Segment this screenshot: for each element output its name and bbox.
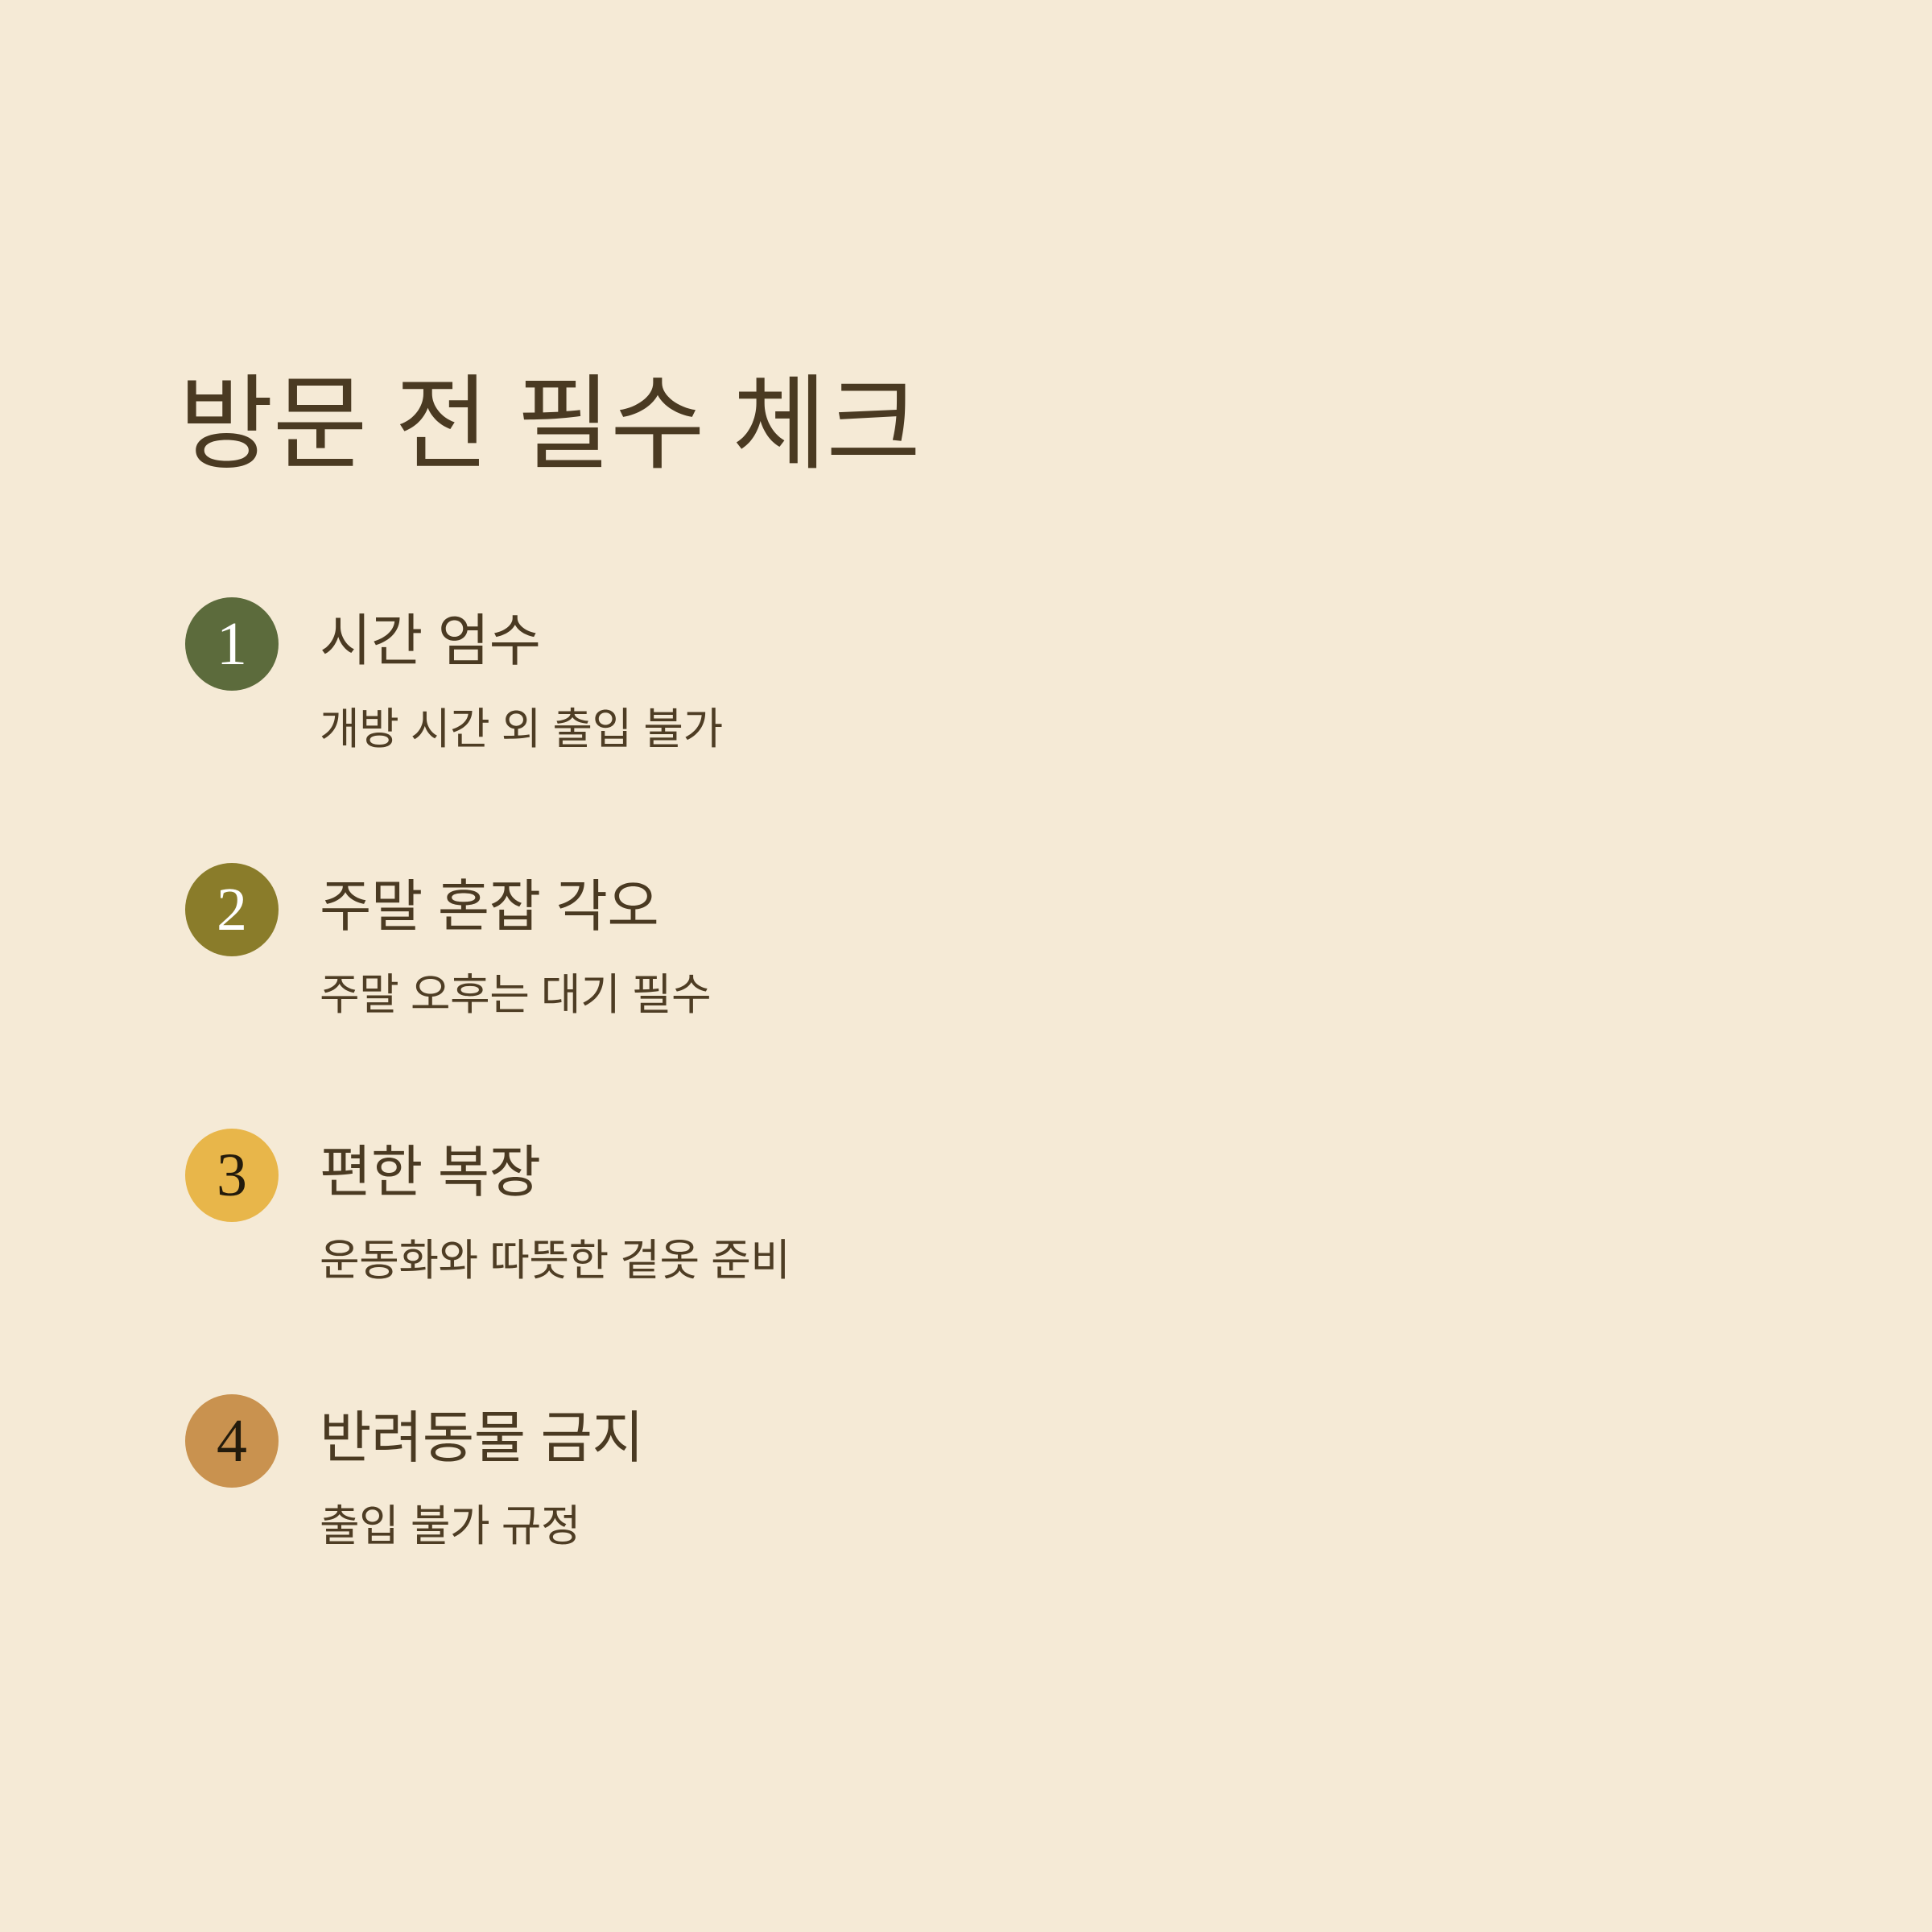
list-item: 1 시간 엄수 개방 시간 외 출입 불가 <box>179 588 1708 853</box>
list-item-description: 운동화와 따뜻한 겉옷 준비 <box>320 1203 1708 1286</box>
list-item: 2 주말 혼잡 각오 주말 오후는 대기 필수 <box>179 853 1708 1119</box>
number-badge-1: 1 <box>185 597 279 691</box>
list-item: 3 편한 복장 운동화와 따뜻한 겉옷 준비 <box>179 1119 1708 1385</box>
list-item-title: 시간 엄수 <box>320 588 1708 672</box>
list-item-description: 출입 불가 규정 <box>320 1469 1708 1551</box>
number-badge-2: 2 <box>185 863 279 956</box>
number-badge-4: 4 <box>185 1394 279 1488</box>
list-item: 4 반려동물 금지 출입 불가 규정 <box>179 1385 1708 1650</box>
list-item-title: 편한 복장 <box>320 1119 1708 1203</box>
list-item-description: 주말 오후는 대기 필수 <box>320 938 1708 1020</box>
list-item-title: 반려동물 금지 <box>320 1385 1708 1469</box>
number-badge-3: 3 <box>185 1129 279 1222</box>
page-title: 방문 전 필수 체크 <box>179 364 920 485</box>
list-item-title: 주말 혼잡 각오 <box>320 853 1708 938</box>
checklist: 1 시간 엄수 개방 시간 외 출입 불가 2 주말 혼잡 각오 주말 오후는 … <box>179 588 1708 1650</box>
list-item-description: 개방 시간 외 출입 불가 <box>320 672 1708 754</box>
checklist-card: 방문 전 필수 체크 1 시간 엄수 개방 시간 외 출입 불가 2 주말 혼잡… <box>0 0 1932 1932</box>
